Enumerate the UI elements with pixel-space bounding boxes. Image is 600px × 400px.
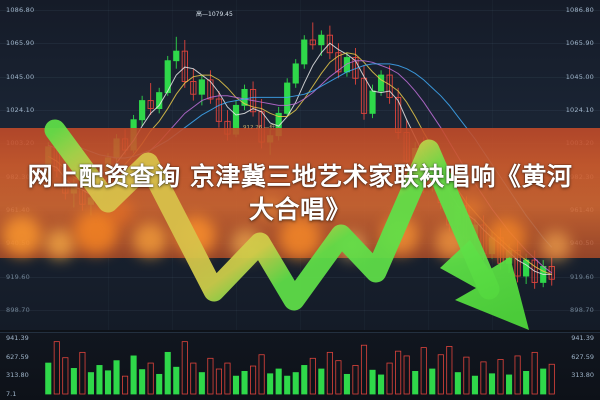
volume-bar [208,358,213,394]
volume-bar [97,365,102,394]
price-tick-label: 1086.80 [566,6,594,14]
volume-bar [370,370,375,394]
volume-bar [336,361,341,394]
volume-bar [54,342,59,394]
volume-bar [114,361,119,394]
price-tick-label: 1086.80 [6,6,34,14]
volume-bar [523,371,528,394]
volume-bar [259,355,264,394]
volume-bar [63,358,68,394]
volume-tick-label: 627.59 [571,353,594,361]
candle-body [157,93,162,109]
volume-tick-label: 941.39 [6,334,29,342]
candle-body [370,91,375,113]
candle-body [285,83,290,113]
volume-bar [71,368,76,394]
bokeh-light [45,229,75,259]
volume-bar [541,369,546,394]
volume-tick-label: 313.80 [6,371,29,379]
bokeh-light [176,216,216,256]
price-tick-label: 1024.10 [566,106,594,114]
volume-bar [464,357,469,394]
price-tick-label: 1045.00 [566,73,594,81]
volume-bar [165,352,170,394]
candle-body [139,101,144,120]
volume-bar [489,374,494,394]
candle-body [174,51,179,61]
volume-bar [88,373,93,394]
volume-bar [344,374,349,394]
volume-bar [413,371,418,394]
bokeh-light [486,218,526,258]
volume-bar [276,369,281,394]
bokeh-light [107,199,133,225]
volume-bar [122,376,127,394]
bokeh-light [279,217,321,259]
high-price-marker: 高—1079.45 [196,9,233,18]
volume-bar [515,356,520,394]
volume-bar [131,356,136,394]
volume-bar [302,365,307,394]
volume-series [0,332,600,400]
bokeh-light [435,225,469,259]
volume-bar [430,369,435,394]
volume-bar [506,375,511,394]
volume-bar [233,376,238,394]
bokeh-light [458,198,482,222]
candle-body [302,40,307,64]
candle-body [199,80,204,94]
volume-bar [447,346,452,394]
volume-bar [438,355,443,394]
price-tick-label: 898.70 [6,306,30,314]
volume-bar [395,351,400,394]
volume-tick-label: 313.80 [571,371,594,379]
volume-bar [455,373,460,394]
volume-bar [327,352,332,394]
volume-bar [46,363,51,394]
volume-bar [225,363,230,394]
volume-bar [148,363,153,394]
price-tick-label: 1045.00 [6,73,34,81]
volume-bar [361,345,366,394]
volume-bar [481,362,486,394]
volume-bar [199,373,204,394]
volume-bar [242,371,247,394]
volume-bar [549,364,554,394]
volume-tick-label: 941.39 [571,334,594,342]
volume-bar [319,369,324,394]
bokeh-light [2,216,42,256]
bokeh-light [541,231,571,261]
volume-tick-label: 627.59 [6,353,29,361]
volume-bar [267,374,272,394]
price-tick-label: 898.70 [570,306,594,314]
bokeh-light [338,232,366,260]
volume-bar [353,365,358,394]
volume-bar [285,376,290,394]
volume-bar [421,348,426,394]
stock-chart-banner: 1086.801065.901045.001024.101003.20982.3… [0,0,600,400]
volume-bar [157,374,162,394]
volume-bar [472,376,477,394]
volume-bar [250,366,255,394]
price-tick-label: 919.60 [570,273,594,281]
candle-body [319,35,324,45]
price-tick-label: 1065.90 [566,39,594,47]
bokeh-light [259,197,281,219]
volume-bar [191,363,196,394]
volume-bar [404,356,409,394]
volume-bar [174,367,179,394]
volume-bar [498,359,503,394]
price-tick-label: 1024.10 [6,106,34,114]
volume-bar [378,375,383,394]
volume-bar [293,373,298,394]
price-tick-label: 1065.90 [6,39,34,47]
candle-body [293,64,298,83]
volume-tick-label: 7.1 [6,390,16,398]
candle-body [523,260,528,276]
volume-bar [532,352,537,394]
volume-bar [105,371,110,394]
price-tick-label: 919.60 [6,273,30,281]
volume-bar [182,342,187,394]
bokeh-light [133,223,167,257]
volume-bar [310,358,315,394]
volume-bar [387,363,392,394]
bokeh-light [381,217,419,255]
volume-bar [139,370,144,394]
bokeh-light [231,229,261,259]
volume-bar [80,352,85,394]
volume-bar [216,369,221,394]
